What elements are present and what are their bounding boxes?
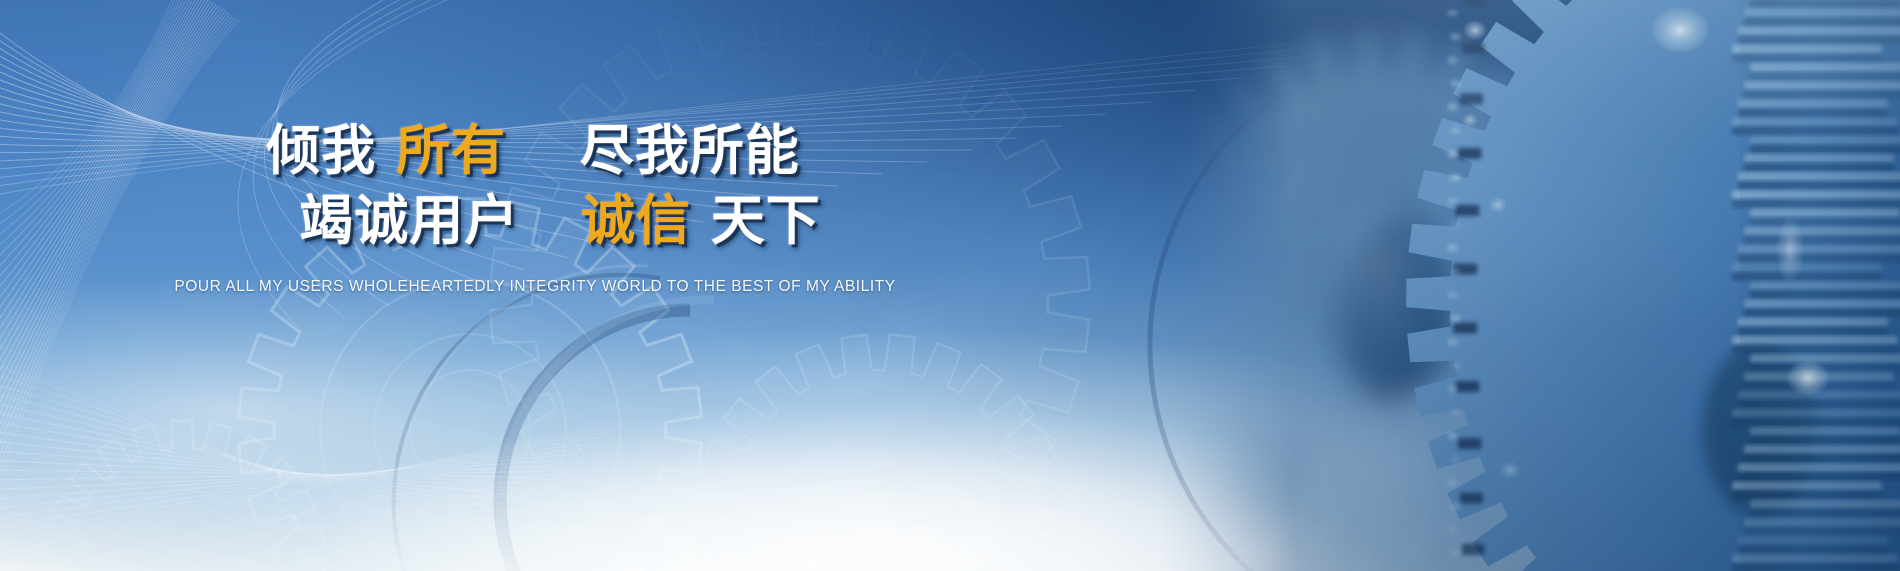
headline-line-1: 倾我 所有 尽我所能 — [6, 118, 1060, 184]
headline-l2-seg2-accent: 诚信 — [581, 189, 691, 252]
headline-l1-seg1: 倾我 — [266, 119, 376, 182]
headline-l2-seg1: 竭诚用户 — [299, 189, 519, 252]
headline-line-2: 竭诚用户 诚信 天下 — [60, 188, 1060, 254]
banner-copy: 倾我 所有 尽我所能 竭诚用户 诚信 天下 POUR ALL MY USERS … — [0, 0, 1060, 296]
banner-subtitle: POUR ALL MY USERS WHOLEHEARTEDLY INTEGRI… — [10, 278, 1060, 296]
headline-l1-seg2-accent: 所有 — [396, 119, 506, 182]
headline-l2-seg3: 天下 — [711, 189, 821, 252]
hero-banner: 倾我 所有 尽我所能 竭诚用户 诚信 天下 POUR ALL MY USERS … — [0, 0, 1900, 571]
headline-l1-seg3: 尽我所能 — [580, 119, 800, 182]
